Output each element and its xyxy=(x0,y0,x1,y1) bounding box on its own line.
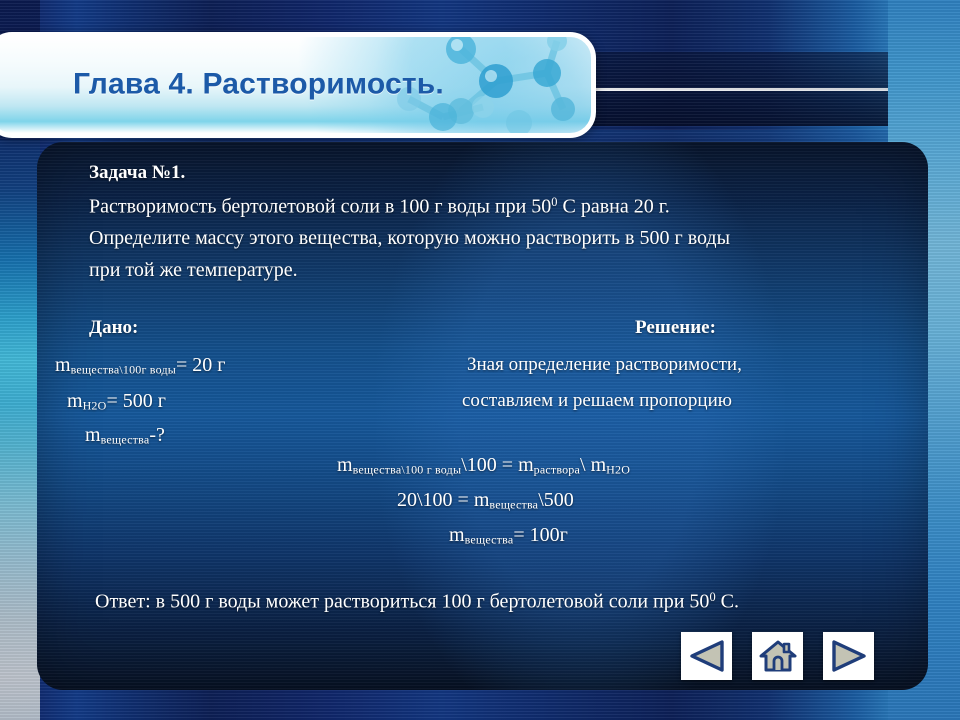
eq3-a-subscript: вещества xyxy=(465,533,514,547)
eq1-a-var: m xyxy=(337,454,353,476)
given-line-1: mвещества\100г воды= 20 г xyxy=(55,354,226,378)
eq1-mid: \100 = xyxy=(461,454,518,476)
solution-text-2: составляем и решаем пропорцию xyxy=(462,390,732,412)
given-1-value: = 20 г xyxy=(176,354,225,376)
eq3-b: = 100г xyxy=(513,524,567,546)
given-2-var: m xyxy=(67,390,83,412)
answer-line: Ответ: в 500 г воды может раствориться 1… xyxy=(95,590,739,613)
page-title: Глава 4. Растворимость. xyxy=(73,67,444,101)
given-1-var: m xyxy=(55,354,71,376)
forward-button[interactable] xyxy=(823,632,874,680)
content-panel: Задача №1. Растворимость бертолетовой со… xyxy=(37,142,928,690)
eq1-a-subscript: вещества\100 г воды xyxy=(353,463,462,477)
equation-1: mвещества\100 г воды\100 = mраствора\ mH… xyxy=(337,454,630,478)
eq2-b-subscript: вещества xyxy=(489,498,538,512)
answer-text-a: Ответ: в 500 г воды может раствориться 1… xyxy=(95,590,709,612)
eq2-a: 20\100 = xyxy=(397,489,474,511)
given-3-var: m xyxy=(85,424,101,446)
given-heading: Дано: xyxy=(89,317,138,339)
answer-text-b: С. xyxy=(716,590,739,612)
house-icon xyxy=(759,639,797,673)
eq1-b-var: m xyxy=(518,454,534,476)
navigation-bar xyxy=(681,632,874,680)
eq3-a-var: m xyxy=(449,524,465,546)
equation-2: 20\100 = mвещества\500 xyxy=(397,489,574,513)
given-3-subscript: вещества xyxy=(101,433,150,447)
given-line-2: mH2O= 500 г xyxy=(67,390,166,414)
task-label: Задача №1. xyxy=(89,162,185,184)
given-2-subscript: H2O xyxy=(83,399,107,413)
eq2-b-var: m xyxy=(474,489,490,511)
given-line-3: mвещества-? xyxy=(85,424,165,448)
triangle-left-icon xyxy=(688,639,726,673)
slide-title-bar: Глава 4. Растворимость. xyxy=(0,32,596,138)
given-1-subscript: вещества\100г воды xyxy=(71,363,176,377)
given-3-value: -? xyxy=(149,424,165,446)
eq1-b-subscript: раствора xyxy=(534,463,580,477)
eq1-d-var: m xyxy=(591,454,607,476)
content-body: Задача №1. Растворимость бертолетовой со… xyxy=(37,142,928,690)
home-button[interactable] xyxy=(752,632,803,680)
problem-line-1-text-a: Растворимость бертолетовой соли в 100 г … xyxy=(89,195,551,217)
equation-3: mвещества= 100г xyxy=(449,524,568,548)
problem-line-1-text-b: С равна 20 г. xyxy=(558,195,670,217)
eq1-c: \ xyxy=(580,454,591,476)
problem-line-3: при той же температуре. xyxy=(89,259,298,282)
eq2-c: \500 xyxy=(538,489,574,511)
solution-heading: Решение: xyxy=(635,317,716,339)
triangle-right-icon xyxy=(830,639,868,673)
back-button[interactable] xyxy=(681,632,732,680)
solution-text-1: Зная определение растворимости, xyxy=(467,354,742,376)
slide-root: Глава 4. Растворимость. Задача №1. Раств… xyxy=(0,0,960,720)
given-2-value: = 500 г xyxy=(107,390,166,412)
eq1-d-subscript: H2O xyxy=(606,463,630,477)
problem-line-2: Определите массу этого вещества, которую… xyxy=(89,227,730,250)
problem-line-1: Растворимость бертолетовой соли в 100 г … xyxy=(89,195,670,218)
